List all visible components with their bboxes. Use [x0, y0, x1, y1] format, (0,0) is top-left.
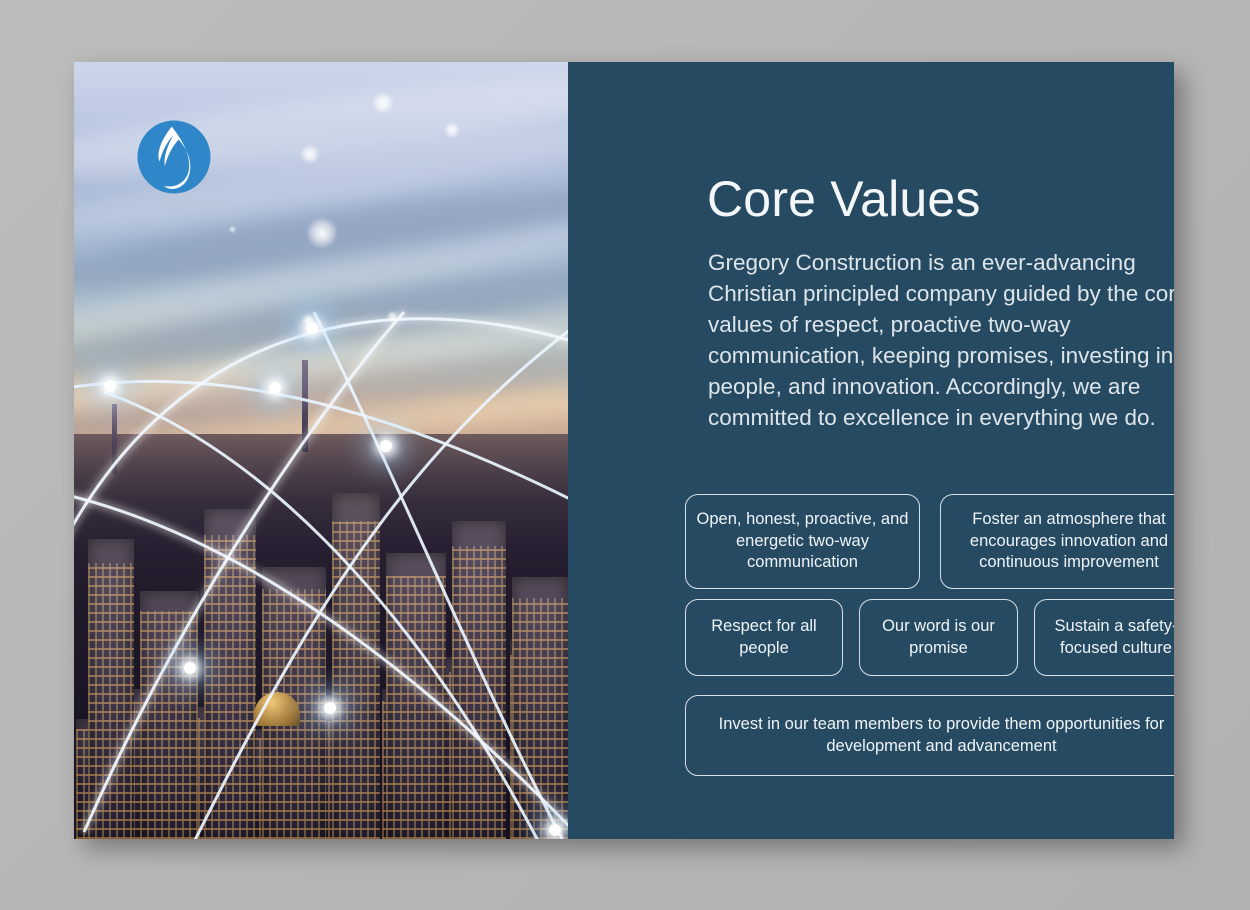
content-panel: Core Values Gregory Construction is an e… — [568, 62, 1174, 839]
bokeh-light — [229, 226, 236, 233]
page-title: Core Values — [707, 170, 981, 228]
value-box-innovation[interactable]: Foster an atmosphere that encourages inn… — [940, 494, 1174, 589]
bokeh-light — [300, 144, 320, 164]
bokeh-light — [306, 217, 338, 249]
value-box-communication[interactable]: Open, honest, proactive, and energetic t… — [685, 494, 920, 589]
network-node — [269, 382, 281, 394]
bokeh-light — [444, 122, 460, 138]
bokeh-light — [302, 314, 315, 327]
bokeh-light — [372, 92, 394, 114]
slide-card: Core Values Gregory Construction is an e… — [74, 62, 1174, 839]
network-node — [184, 662, 196, 674]
slide-stage: Core Values Gregory Construction is an e… — [0, 0, 1250, 910]
leaf-circle-logo — [136, 119, 212, 195]
network-node — [104, 380, 116, 392]
value-box-safety[interactable]: Sustain a safety-focused culture — [1034, 599, 1174, 676]
network-node — [549, 824, 561, 836]
value-box-invest[interactable]: Invest in our team members to provide th… — [685, 695, 1174, 776]
value-box-respect[interactable]: Respect for all people — [685, 599, 843, 676]
bokeh-light — [387, 311, 398, 322]
value-box-promise[interactable]: Our word is our promise — [859, 599, 1018, 676]
city-network-photo — [74, 62, 568, 839]
network-node — [380, 440, 392, 452]
network-node — [324, 702, 336, 714]
intro-paragraph: Gregory Construction is an ever-advancin… — [708, 247, 1174, 433]
